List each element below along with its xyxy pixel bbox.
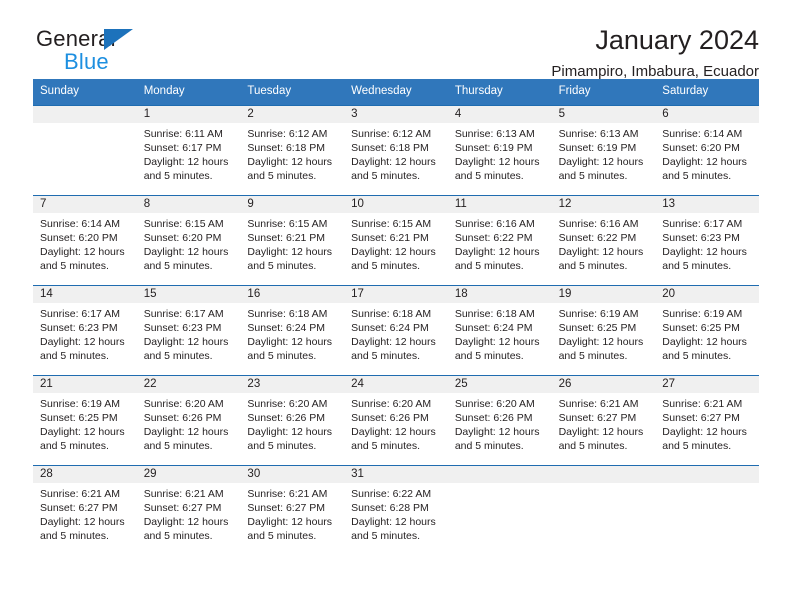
daylight-text-line1: Daylight: 12 hours xyxy=(40,335,131,349)
day-sun-info: Sunrise: 6:21 AMSunset: 6:27 PMDaylight:… xyxy=(662,393,753,454)
day-number: 18 xyxy=(455,286,546,303)
day-sun-info: Sunrise: 6:13 AMSunset: 6:19 PMDaylight:… xyxy=(559,123,650,184)
calendar-day-cell[interactable]: 12Sunrise: 6:16 AMSunset: 6:22 PMDayligh… xyxy=(552,196,656,285)
day-sun-info: Sunrise: 6:17 AMSunset: 6:23 PMDaylight:… xyxy=(40,303,131,364)
day-sun-info: Sunrise: 6:19 AMSunset: 6:25 PMDaylight:… xyxy=(40,393,131,454)
sunset-text: Sunset: 6:24 PM xyxy=(455,321,546,335)
sunrise-text: Sunrise: 6:21 AM xyxy=(662,397,753,411)
calendar-day-cell[interactable]: 7Sunrise: 6:14 AMSunset: 6:20 PMDaylight… xyxy=(33,196,137,285)
daylight-text-line1: Daylight: 12 hours xyxy=(455,425,546,439)
daylight-text-line1: Daylight: 12 hours xyxy=(662,155,753,169)
sunrise-text: Sunrise: 6:19 AM xyxy=(662,307,753,321)
sunrise-text: Sunrise: 6:21 AM xyxy=(144,487,235,501)
day-number: 4 xyxy=(455,106,546,123)
daylight-text-line1: Daylight: 12 hours xyxy=(144,155,235,169)
calendar-day-cell[interactable]: 1Sunrise: 6:11 AMSunset: 6:17 PMDaylight… xyxy=(137,106,241,195)
sunrise-text: Sunrise: 6:18 AM xyxy=(247,307,338,321)
calendar-day-cell[interactable]: 27Sunrise: 6:21 AMSunset: 6:27 PMDayligh… xyxy=(655,376,759,465)
daylight-text-line1: Daylight: 12 hours xyxy=(247,425,338,439)
daylight-text-line1: Daylight: 12 hours xyxy=(455,155,546,169)
day-sun-info: Sunrise: 6:13 AMSunset: 6:19 PMDaylight:… xyxy=(455,123,546,184)
sunset-text: Sunset: 6:18 PM xyxy=(247,141,338,155)
sunrise-text: Sunrise: 6:20 AM xyxy=(144,397,235,411)
calendar-day-cell[interactable]: 9Sunrise: 6:15 AMSunset: 6:21 PMDaylight… xyxy=(240,196,344,285)
daylight-text-line1: Daylight: 12 hours xyxy=(351,425,442,439)
daylight-text-line1: Daylight: 12 hours xyxy=(559,155,650,169)
day-sun-info: Sunrise: 6:20 AMSunset: 6:26 PMDaylight:… xyxy=(351,393,442,454)
calendar-day-cell[interactable]: 24Sunrise: 6:20 AMSunset: 6:26 PMDayligh… xyxy=(344,376,448,465)
calendar-day-cell[interactable]: 15Sunrise: 6:17 AMSunset: 6:23 PMDayligh… xyxy=(137,286,241,375)
daylight-text-line2: and 5 minutes. xyxy=(351,169,442,183)
day-sun-info: Sunrise: 6:21 AMSunset: 6:27 PMDaylight:… xyxy=(144,483,235,544)
day-number: 6 xyxy=(662,106,753,123)
calendar-week-row: 21Sunrise: 6:19 AMSunset: 6:25 PMDayligh… xyxy=(33,375,759,465)
calendar-day-cell[interactable]: 8Sunrise: 6:15 AMSunset: 6:20 PMDaylight… xyxy=(137,196,241,285)
sunset-text: Sunset: 6:25 PM xyxy=(40,411,131,425)
day-number xyxy=(40,106,131,123)
calendar-day-cell[interactable]: 6Sunrise: 6:14 AMSunset: 6:20 PMDaylight… xyxy=(655,106,759,195)
daylight-text-line2: and 5 minutes. xyxy=(144,349,235,363)
calendar-day-cell[interactable]: 14Sunrise: 6:17 AMSunset: 6:23 PMDayligh… xyxy=(33,286,137,375)
day-number: 1 xyxy=(144,106,235,123)
day-number xyxy=(559,466,650,483)
daylight-text-line2: and 5 minutes. xyxy=(559,169,650,183)
sunrise-text: Sunrise: 6:21 AM xyxy=(40,487,131,501)
calendar-day-cell[interactable]: 5Sunrise: 6:13 AMSunset: 6:19 PMDaylight… xyxy=(552,106,656,195)
day-number: 9 xyxy=(247,196,338,213)
daylight-text-line2: and 5 minutes. xyxy=(662,169,753,183)
day-number: 8 xyxy=(144,196,235,213)
daylight-text-line1: Daylight: 12 hours xyxy=(455,335,546,349)
daylight-text-line1: Daylight: 12 hours xyxy=(351,245,442,259)
daylight-text-line2: and 5 minutes. xyxy=(662,439,753,453)
calendar-day-cell[interactable]: 31Sunrise: 6:22 AMSunset: 6:28 PMDayligh… xyxy=(344,466,448,555)
day-sun-info: Sunrise: 6:11 AMSunset: 6:17 PMDaylight:… xyxy=(144,123,235,184)
calendar-grid: SundayMondayTuesdayWednesdayThursdayFrid… xyxy=(33,79,759,555)
daylight-text-line2: and 5 minutes. xyxy=(559,259,650,273)
general-blue-logo[interactable]: General Blue xyxy=(33,26,173,78)
day-number: 20 xyxy=(662,286,753,303)
page-subtitle: Pimampiro, Imbabura, Ecuador xyxy=(173,64,759,81)
calendar-empty-cell xyxy=(448,466,552,555)
day-number: 19 xyxy=(559,286,650,303)
calendar-day-cell[interactable]: 20Sunrise: 6:19 AMSunset: 6:25 PMDayligh… xyxy=(655,286,759,375)
daylight-text-line1: Daylight: 12 hours xyxy=(559,245,650,259)
day-sun-info: Sunrise: 6:18 AMSunset: 6:24 PMDaylight:… xyxy=(247,303,338,364)
day-number: 26 xyxy=(559,376,650,393)
day-number: 25 xyxy=(455,376,546,393)
calendar-day-cell[interactable]: 21Sunrise: 6:19 AMSunset: 6:25 PMDayligh… xyxy=(33,376,137,465)
sunset-text: Sunset: 6:24 PM xyxy=(351,321,442,335)
weekday-header-saturday: Saturday xyxy=(655,79,759,105)
calendar-day-cell[interactable]: 3Sunrise: 6:12 AMSunset: 6:18 PMDaylight… xyxy=(344,106,448,195)
day-number: 28 xyxy=(40,466,131,483)
sunrise-text: Sunrise: 6:12 AM xyxy=(247,127,338,141)
day-number: 22 xyxy=(144,376,235,393)
weekday-header-tuesday: Tuesday xyxy=(240,79,344,105)
weekday-header-row: SundayMondayTuesdayWednesdayThursdayFrid… xyxy=(33,79,759,105)
calendar-week-row: 28Sunrise: 6:21 AMSunset: 6:27 PMDayligh… xyxy=(33,465,759,555)
sunrise-text: Sunrise: 6:16 AM xyxy=(455,217,546,231)
sunset-text: Sunset: 6:19 PM xyxy=(559,141,650,155)
sunset-text: Sunset: 6:18 PM xyxy=(351,141,442,155)
daylight-text-line1: Daylight: 12 hours xyxy=(40,425,131,439)
sunset-text: Sunset: 6:27 PM xyxy=(662,411,753,425)
sunset-text: Sunset: 6:19 PM xyxy=(455,141,546,155)
day-sun-info: Sunrise: 6:14 AMSunset: 6:20 PMDaylight:… xyxy=(662,123,753,184)
daylight-text-line1: Daylight: 12 hours xyxy=(144,335,235,349)
day-number: 23 xyxy=(247,376,338,393)
calendar-day-cell[interactable]: 2Sunrise: 6:12 AMSunset: 6:18 PMDaylight… xyxy=(240,106,344,195)
calendar-day-cell[interactable]: 16Sunrise: 6:18 AMSunset: 6:24 PMDayligh… xyxy=(240,286,344,375)
calendar-day-cell[interactable]: 28Sunrise: 6:21 AMSunset: 6:27 PMDayligh… xyxy=(33,466,137,555)
daylight-text-line2: and 5 minutes. xyxy=(144,259,235,273)
calendar-empty-cell xyxy=(552,466,656,555)
weekday-header-sunday: Sunday xyxy=(33,79,137,105)
day-sun-info: Sunrise: 6:21 AMSunset: 6:27 PMDaylight:… xyxy=(559,393,650,454)
sunset-text: Sunset: 6:26 PM xyxy=(351,411,442,425)
sunrise-text: Sunrise: 6:20 AM xyxy=(247,397,338,411)
day-sun-info: Sunrise: 6:18 AMSunset: 6:24 PMDaylight:… xyxy=(455,303,546,364)
sunset-text: Sunset: 6:24 PM xyxy=(247,321,338,335)
sunset-text: Sunset: 6:20 PM xyxy=(662,141,753,155)
calendar-empty-cell xyxy=(33,106,137,195)
daylight-text-line2: and 5 minutes. xyxy=(351,439,442,453)
day-number: 3 xyxy=(351,106,442,123)
calendar-day-cell[interactable]: 10Sunrise: 6:15 AMSunset: 6:21 PMDayligh… xyxy=(344,196,448,285)
title-block: January 2024 Pimampiro, Imbabura, Ecuado… xyxy=(173,26,759,80)
daylight-text-line1: Daylight: 12 hours xyxy=(247,515,338,529)
day-sun-info xyxy=(662,483,753,487)
sunset-text: Sunset: 6:27 PM xyxy=(40,501,131,515)
sunset-text: Sunset: 6:26 PM xyxy=(455,411,546,425)
sunrise-text: Sunrise: 6:20 AM xyxy=(455,397,546,411)
daylight-text-line2: and 5 minutes. xyxy=(455,439,546,453)
daylight-text-line1: Daylight: 12 hours xyxy=(40,245,131,259)
daylight-text-line1: Daylight: 12 hours xyxy=(455,245,546,259)
weekday-header-friday: Friday xyxy=(552,79,656,105)
day-number: 13 xyxy=(662,196,753,213)
sunset-text: Sunset: 6:20 PM xyxy=(40,231,131,245)
daylight-text-line1: Daylight: 12 hours xyxy=(247,245,338,259)
sunrise-text: Sunrise: 6:14 AM xyxy=(40,217,131,231)
daylight-text-line1: Daylight: 12 hours xyxy=(351,335,442,349)
sunset-text: Sunset: 6:25 PM xyxy=(559,321,650,335)
day-sun-info xyxy=(559,483,650,487)
day-number: 29 xyxy=(144,466,235,483)
calendar-weeks: 1Sunrise: 6:11 AMSunset: 6:17 PMDaylight… xyxy=(33,105,759,555)
day-sun-info: Sunrise: 6:15 AMSunset: 6:20 PMDaylight:… xyxy=(144,213,235,274)
weekday-header-thursday: Thursday xyxy=(448,79,552,105)
sunrise-text: Sunrise: 6:17 AM xyxy=(40,307,131,321)
page-header: General Blue January 2024 Pimampiro, Imb… xyxy=(33,0,759,74)
day-sun-info: Sunrise: 6:20 AMSunset: 6:26 PMDaylight:… xyxy=(247,393,338,454)
sunset-text: Sunset: 6:28 PM xyxy=(351,501,442,515)
sunset-text: Sunset: 6:22 PM xyxy=(559,231,650,245)
daylight-text-line2: and 5 minutes. xyxy=(144,439,235,453)
sunrise-text: Sunrise: 6:21 AM xyxy=(247,487,338,501)
sunset-text: Sunset: 6:17 PM xyxy=(144,141,235,155)
calendar-day-cell[interactable]: 4Sunrise: 6:13 AMSunset: 6:19 PMDaylight… xyxy=(448,106,552,195)
daylight-text-line2: and 5 minutes. xyxy=(247,529,338,543)
calendar-week-row: 7Sunrise: 6:14 AMSunset: 6:20 PMDaylight… xyxy=(33,195,759,285)
sunset-text: Sunset: 6:25 PM xyxy=(662,321,753,335)
daylight-text-line1: Daylight: 12 hours xyxy=(144,425,235,439)
daylight-text-line1: Daylight: 12 hours xyxy=(662,245,753,259)
sunrise-text: Sunrise: 6:20 AM xyxy=(351,397,442,411)
daylight-text-line1: Daylight: 12 hours xyxy=(351,515,442,529)
sunrise-text: Sunrise: 6:16 AM xyxy=(559,217,650,231)
day-number: 30 xyxy=(247,466,338,483)
calendar-day-cell[interactable]: 26Sunrise: 6:21 AMSunset: 6:27 PMDayligh… xyxy=(552,376,656,465)
calendar-page: General Blue January 2024 Pimampiro, Imb… xyxy=(0,0,792,612)
daylight-text-line2: and 5 minutes. xyxy=(662,259,753,273)
day-number: 15 xyxy=(144,286,235,303)
day-sun-info: Sunrise: 6:18 AMSunset: 6:24 PMDaylight:… xyxy=(351,303,442,364)
day-sun-info xyxy=(40,123,131,127)
sunrise-text: Sunrise: 6:17 AM xyxy=(144,307,235,321)
calendar-week-row: 14Sunrise: 6:17 AMSunset: 6:23 PMDayligh… xyxy=(33,285,759,375)
day-sun-info: Sunrise: 6:16 AMSunset: 6:22 PMDaylight:… xyxy=(559,213,650,274)
sunset-text: Sunset: 6:23 PM xyxy=(662,231,753,245)
daylight-text-line1: Daylight: 12 hours xyxy=(662,425,753,439)
daylight-text-line2: and 5 minutes. xyxy=(144,169,235,183)
sunset-text: Sunset: 6:27 PM xyxy=(144,501,235,515)
sunrise-text: Sunrise: 6:11 AM xyxy=(144,127,235,141)
day-sun-info: Sunrise: 6:14 AMSunset: 6:20 PMDaylight:… xyxy=(40,213,131,274)
sunrise-text: Sunrise: 6:15 AM xyxy=(247,217,338,231)
daylight-text-line1: Daylight: 12 hours xyxy=(247,335,338,349)
day-number: 2 xyxy=(247,106,338,123)
sunrise-text: Sunrise: 6:19 AM xyxy=(559,307,650,321)
daylight-text-line2: and 5 minutes. xyxy=(351,349,442,363)
daylight-text-line2: and 5 minutes. xyxy=(247,169,338,183)
daylight-text-line2: and 5 minutes. xyxy=(144,529,235,543)
daylight-text-line2: and 5 minutes. xyxy=(351,259,442,273)
logo-text-blue: Blue xyxy=(64,51,109,73)
day-sun-info: Sunrise: 6:15 AMSunset: 6:21 PMDaylight:… xyxy=(351,213,442,274)
sunset-text: Sunset: 6:23 PM xyxy=(40,321,131,335)
day-sun-info: Sunrise: 6:21 AMSunset: 6:27 PMDaylight:… xyxy=(40,483,131,544)
sunset-text: Sunset: 6:27 PM xyxy=(247,501,338,515)
sunrise-text: Sunrise: 6:19 AM xyxy=(40,397,131,411)
sunrise-text: Sunrise: 6:14 AM xyxy=(662,127,753,141)
sunrise-text: Sunrise: 6:13 AM xyxy=(455,127,546,141)
daylight-text-line2: and 5 minutes. xyxy=(559,349,650,363)
calendar-day-cell[interactable]: 29Sunrise: 6:21 AMSunset: 6:27 PMDayligh… xyxy=(137,466,241,555)
page-title: January 2024 xyxy=(173,26,759,56)
sunset-text: Sunset: 6:22 PM xyxy=(455,231,546,245)
daylight-text-line2: and 5 minutes. xyxy=(455,259,546,273)
day-sun-info: Sunrise: 6:19 AMSunset: 6:25 PMDaylight:… xyxy=(662,303,753,364)
day-number: 21 xyxy=(40,376,131,393)
sunrise-text: Sunrise: 6:15 AM xyxy=(351,217,442,231)
day-number: 7 xyxy=(40,196,131,213)
sunrise-text: Sunrise: 6:17 AM xyxy=(662,217,753,231)
sunrise-text: Sunrise: 6:13 AM xyxy=(559,127,650,141)
day-sun-info: Sunrise: 6:21 AMSunset: 6:27 PMDaylight:… xyxy=(247,483,338,544)
calendar-day-cell[interactable]: 30Sunrise: 6:21 AMSunset: 6:27 PMDayligh… xyxy=(240,466,344,555)
sunrise-text: Sunrise: 6:22 AM xyxy=(351,487,442,501)
calendar-day-cell[interactable]: 19Sunrise: 6:19 AMSunset: 6:25 PMDayligh… xyxy=(552,286,656,375)
daylight-text-line2: and 5 minutes. xyxy=(40,439,131,453)
day-number: 31 xyxy=(351,466,442,483)
day-sun-info: Sunrise: 6:16 AMSunset: 6:22 PMDaylight:… xyxy=(455,213,546,274)
daylight-text-line2: and 5 minutes. xyxy=(559,439,650,453)
day-number: 27 xyxy=(662,376,753,393)
daylight-text-line2: and 5 minutes. xyxy=(40,529,131,543)
daylight-text-line2: and 5 minutes. xyxy=(455,169,546,183)
daylight-text-line1: Daylight: 12 hours xyxy=(144,245,235,259)
day-sun-info: Sunrise: 6:20 AMSunset: 6:26 PMDaylight:… xyxy=(455,393,546,454)
day-number: 5 xyxy=(559,106,650,123)
sunset-text: Sunset: 6:27 PM xyxy=(559,411,650,425)
day-number: 12 xyxy=(559,196,650,213)
calendar-day-cell[interactable]: 25Sunrise: 6:20 AMSunset: 6:26 PMDayligh… xyxy=(448,376,552,465)
day-sun-info: Sunrise: 6:17 AMSunset: 6:23 PMDaylight:… xyxy=(144,303,235,364)
sunrise-text: Sunrise: 6:21 AM xyxy=(559,397,650,411)
daylight-text-line2: and 5 minutes. xyxy=(247,259,338,273)
daylight-text-line2: and 5 minutes. xyxy=(351,529,442,543)
sunrise-text: Sunrise: 6:18 AM xyxy=(455,307,546,321)
day-sun-info: Sunrise: 6:12 AMSunset: 6:18 PMDaylight:… xyxy=(247,123,338,184)
day-sun-info xyxy=(455,483,546,487)
day-sun-info: Sunrise: 6:20 AMSunset: 6:26 PMDaylight:… xyxy=(144,393,235,454)
calendar-day-cell[interactable]: 18Sunrise: 6:18 AMSunset: 6:24 PMDayligh… xyxy=(448,286,552,375)
sunrise-text: Sunrise: 6:12 AM xyxy=(351,127,442,141)
calendar-day-cell[interactable]: 23Sunrise: 6:20 AMSunset: 6:26 PMDayligh… xyxy=(240,376,344,465)
daylight-text-line2: and 5 minutes. xyxy=(40,259,131,273)
daylight-text-line1: Daylight: 12 hours xyxy=(559,335,650,349)
day-sun-info: Sunrise: 6:12 AMSunset: 6:18 PMDaylight:… xyxy=(351,123,442,184)
daylight-text-line2: and 5 minutes. xyxy=(662,349,753,363)
calendar-day-cell[interactable]: 22Sunrise: 6:20 AMSunset: 6:26 PMDayligh… xyxy=(137,376,241,465)
sunset-text: Sunset: 6:26 PM xyxy=(144,411,235,425)
day-number: 17 xyxy=(351,286,442,303)
calendar-day-cell[interactable]: 17Sunrise: 6:18 AMSunset: 6:24 PMDayligh… xyxy=(344,286,448,375)
sunrise-text: Sunrise: 6:18 AM xyxy=(351,307,442,321)
daylight-text-line2: and 5 minutes. xyxy=(247,439,338,453)
sunset-text: Sunset: 6:21 PM xyxy=(247,231,338,245)
daylight-text-line1: Daylight: 12 hours xyxy=(662,335,753,349)
sunset-text: Sunset: 6:26 PM xyxy=(247,411,338,425)
day-number xyxy=(455,466,546,483)
sunset-text: Sunset: 6:23 PM xyxy=(144,321,235,335)
day-number: 16 xyxy=(247,286,338,303)
weekday-header-monday: Monday xyxy=(137,79,241,105)
day-sun-info: Sunrise: 6:17 AMSunset: 6:23 PMDaylight:… xyxy=(662,213,753,274)
daylight-text-line1: Daylight: 12 hours xyxy=(247,155,338,169)
daylight-text-line1: Daylight: 12 hours xyxy=(40,515,131,529)
weekday-header-wednesday: Wednesday xyxy=(344,79,448,105)
daylight-text-line2: and 5 minutes. xyxy=(40,349,131,363)
calendar-day-cell[interactable]: 11Sunrise: 6:16 AMSunset: 6:22 PMDayligh… xyxy=(448,196,552,285)
day-number: 11 xyxy=(455,196,546,213)
daylight-text-line1: Daylight: 12 hours xyxy=(559,425,650,439)
daylight-text-line1: Daylight: 12 hours xyxy=(351,155,442,169)
day-sun-info: Sunrise: 6:22 AMSunset: 6:28 PMDaylight:… xyxy=(351,483,442,544)
day-number: 24 xyxy=(351,376,442,393)
daylight-text-line2: and 5 minutes. xyxy=(247,349,338,363)
day-sun-info: Sunrise: 6:19 AMSunset: 6:25 PMDaylight:… xyxy=(559,303,650,364)
day-number: 14 xyxy=(40,286,131,303)
sunrise-text: Sunrise: 6:15 AM xyxy=(144,217,235,231)
day-number: 10 xyxy=(351,196,442,213)
sunset-text: Sunset: 6:20 PM xyxy=(144,231,235,245)
calendar-week-row: 1Sunrise: 6:11 AMSunset: 6:17 PMDaylight… xyxy=(33,105,759,195)
calendar-empty-cell xyxy=(655,466,759,555)
sunset-text: Sunset: 6:21 PM xyxy=(351,231,442,245)
day-sun-info: Sunrise: 6:15 AMSunset: 6:21 PMDaylight:… xyxy=(247,213,338,274)
logo-triangle-icon xyxy=(104,29,133,50)
daylight-text-line2: and 5 minutes. xyxy=(455,349,546,363)
day-number xyxy=(662,466,753,483)
daylight-text-line1: Daylight: 12 hours xyxy=(144,515,235,529)
calendar-day-cell[interactable]: 13Sunrise: 6:17 AMSunset: 6:23 PMDayligh… xyxy=(655,196,759,285)
